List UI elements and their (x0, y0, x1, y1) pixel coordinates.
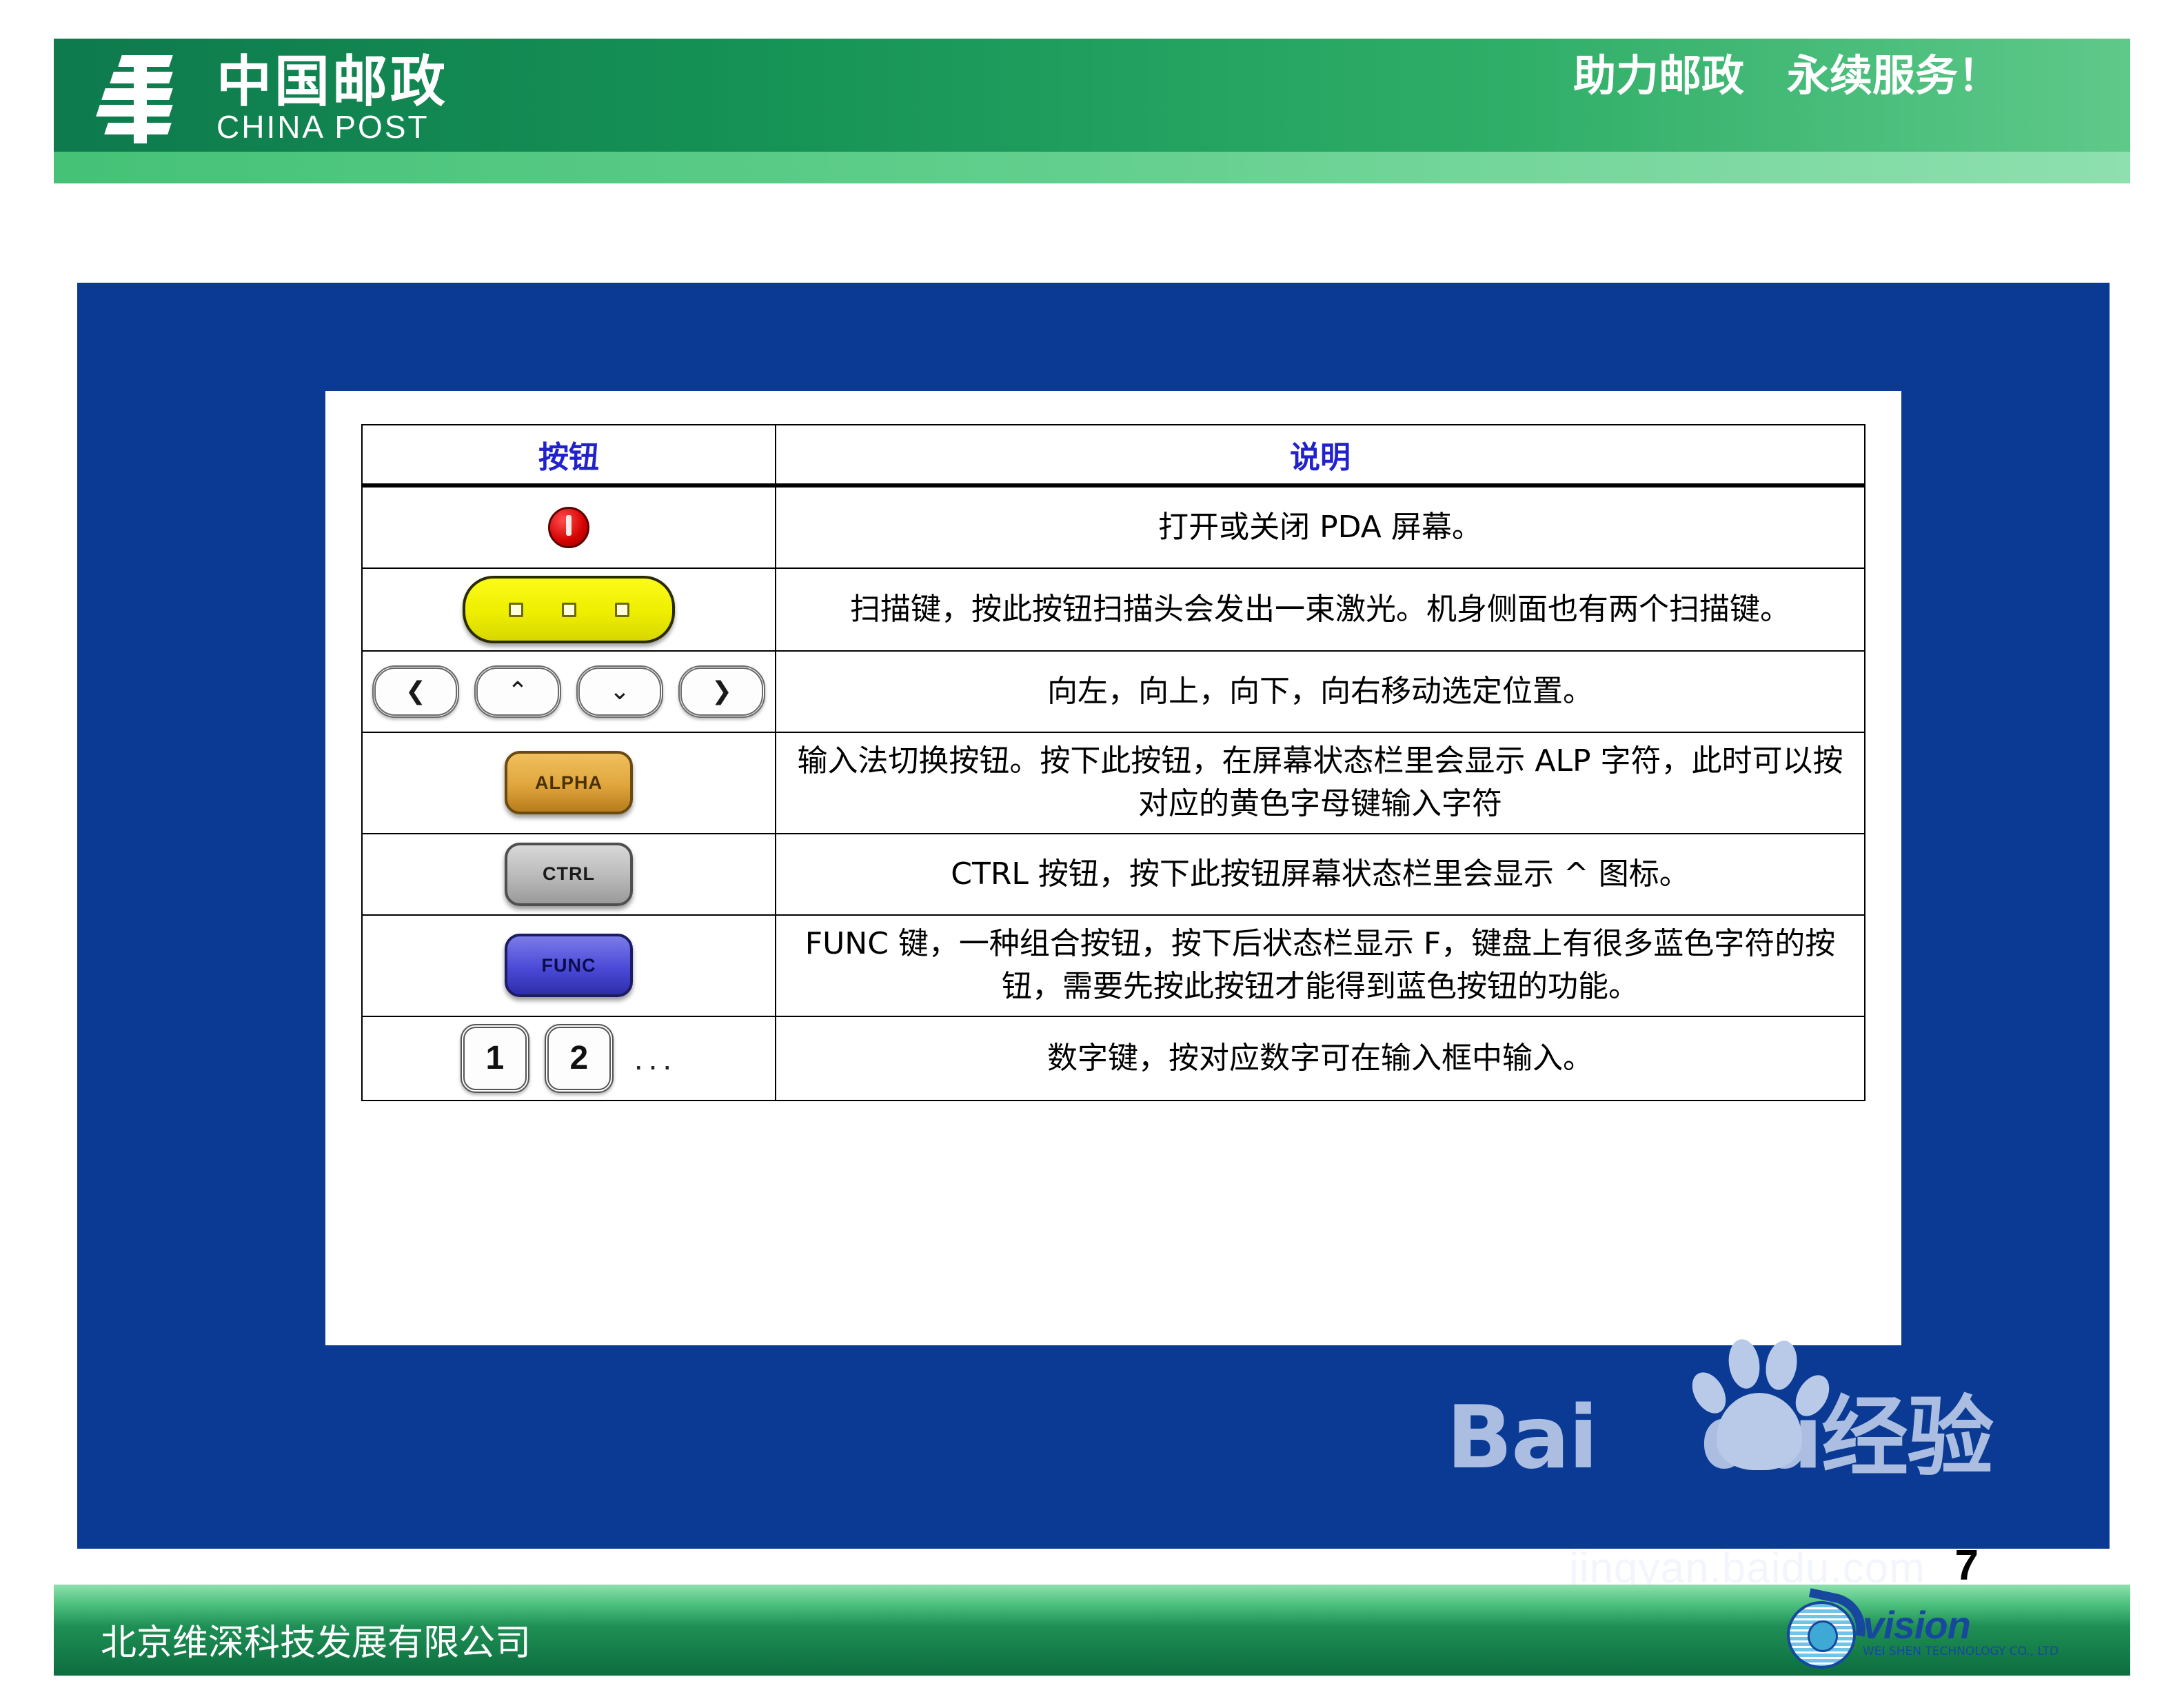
description-cell: 向左，向上，向下，向右移动选定位置。 (776, 651, 1865, 732)
scan-key-icon (463, 576, 675, 643)
func-key-icon: FUNC (505, 934, 633, 997)
button-reference-table-card: 按钮 说明 打开或关闭 PDA 屏幕。 (325, 391, 1901, 1345)
number-key-2-icon: 2 (545, 1024, 614, 1093)
description-cell: 输入法切换按钮。按下此按钮，在屏幕状态栏里会显示 ALP 字符，此时可以按对应的… (776, 732, 1865, 834)
vision-mark-icon (1783, 1596, 1853, 1669)
button-reference-table: 按钮 说明 打开或关闭 PDA 屏幕。 (361, 424, 1866, 1101)
scan-key-dot (562, 603, 576, 617)
arrow-up-key-icon: ⌃ (474, 665, 561, 718)
table-row: 1 2 ... 数字键，按对应数字可在输入框中输入。 (362, 1016, 1865, 1101)
vision-logo: vision WEI SHEN TECHNOLOGY CO., LTD (1783, 1589, 2059, 1676)
button-cell-alpha: ALPHA (362, 732, 776, 834)
scan-key-dot (509, 603, 523, 617)
baidu-jingyan-text: 经验 (1821, 1387, 1992, 1488)
button-cell-func: FUNC (362, 915, 776, 1016)
table-row: ALPHA 输入法切换按钮。按下此按钮，在屏幕状态栏里会显示 ALP 字符，此时… (362, 732, 1865, 834)
scan-key-dot (615, 603, 629, 617)
number-keys-ellipsis: ... (629, 1040, 677, 1077)
header-slogan: 助力邮政 永续服务！ (1532, 48, 2042, 103)
table-row: CTRL CTRL 按钮，按下此按钮屏幕状态栏里会显示 ^ 图标。 (362, 834, 1865, 915)
baidu-brand-text: Bai (1446, 1387, 1597, 1488)
description-cell: FUNC 键，一种组合按钮，按下后状态栏显示 F，键盘上有很多蓝色字符的按钮，需… (776, 915, 1865, 1016)
footer-bar: 北京维深科技发展有限公司 vision WEI SHEN TECHNOLOGY … (54, 1585, 2130, 1676)
button-cell-arrows: ❮ ⌃ ⌄ ❯ (362, 651, 776, 732)
table-row: 扫描键，按此按钮扫描头会发出一束激光。机身侧面也有两个扫描键。 (362, 568, 1865, 651)
description-cell: 打开或关闭 PDA 屏幕。 (776, 485, 1865, 568)
column-header-description: 说明 (776, 425, 1865, 485)
button-cell-ctrl: CTRL (362, 834, 776, 915)
header-stripe (54, 152, 2130, 183)
baidu-du-text: du (1700, 1387, 1821, 1488)
alpha-key-icon: ALPHA (505, 751, 633, 814)
vision-subtitle: WEI SHEN TECHNOLOGY CO., LTD (1863, 1645, 2059, 1658)
arrow-down-key-icon: ⌄ (576, 665, 663, 718)
table-row: ❮ ⌃ ⌄ ❯ 向左，向上，向下，向右移动选定位置。 (362, 651, 1865, 732)
column-header-button: 按钮 (362, 425, 776, 485)
description-cell: 扫描键，按此按钮扫描头会发出一束激光。机身侧面也有两个扫描键。 (776, 568, 1865, 651)
number-key-1-icon: 1 (461, 1024, 529, 1093)
logo-text-chinese: 中国邮政 (216, 54, 448, 110)
table-header-row: 按钮 说明 (362, 425, 1865, 485)
footer-company-name: 北京维深科技发展有限公司 (101, 1614, 531, 1665)
china-post-logo: 中国邮政 CHINA POST (95, 54, 448, 145)
button-cell-scan (362, 568, 776, 651)
description-cell: CTRL 按钮，按下此按钮屏幕状态栏里会显示 ^ 图标。 (776, 834, 1865, 915)
description-cell: 数字键，按对应数字可在输入框中输入。 (776, 1016, 1865, 1101)
table-row: 打开或关闭 PDA 屏幕。 (362, 485, 1865, 568)
ctrl-key-icon: CTRL (505, 843, 633, 906)
table-row: FUNC FUNC 键，一种组合按钮，按下后状态栏显示 F，键盘上有很多蓝色字符… (362, 915, 1865, 1016)
arrow-right-key-icon: ❯ (678, 665, 765, 718)
button-cell-numbers: 1 2 ... (362, 1016, 776, 1101)
china-post-emblem-icon (95, 54, 199, 145)
baidu-jingyan-watermark: Baidu经验 (1439, 1340, 2046, 1540)
logo-text-english: CHINA POST (216, 110, 448, 145)
slide-content-panel: 按钮 说明 打开或关闭 PDA 屏幕。 (77, 283, 2110, 1549)
page-number: 7 (1955, 1541, 1979, 1590)
button-cell-power (362, 485, 776, 568)
power-button-key-icon (548, 507, 589, 548)
header-bar: 中国邮政 CHINA POST 助力邮政 永续服务！ (54, 39, 2130, 183)
baidu-paw-icon (1686, 1336, 1831, 1474)
baidu-wordmark: Baidu经验 (1446, 1394, 1992, 1481)
arrow-left-key-icon: ❮ (372, 665, 459, 718)
vision-wordmark: vision (1863, 1606, 2059, 1645)
